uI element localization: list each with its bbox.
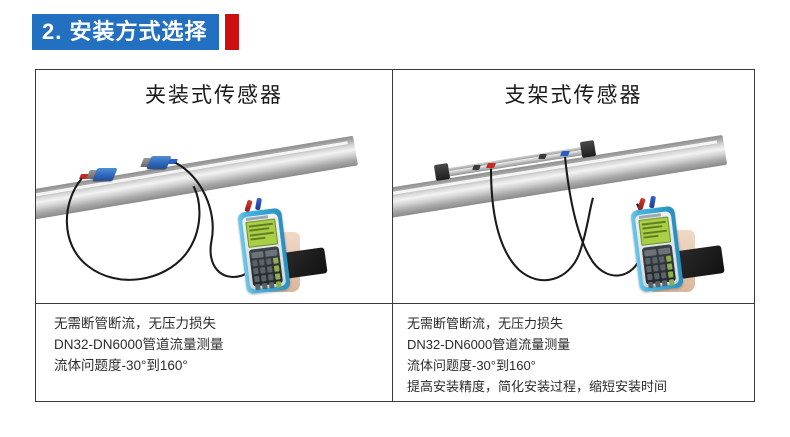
keypad-key: [661, 272, 667, 279]
figure-bracket-installation: [393, 118, 754, 303]
keypad-key: [666, 255, 672, 262]
keypad-key: [252, 260, 258, 267]
keypad-key: [652, 257, 658, 264]
meter-lcd-screen: [245, 218, 278, 247]
spec-line: DN32-DN6000管道流量测量: [54, 334, 382, 355]
page-title-bar: 2. 安装方式选择: [32, 14, 239, 50]
lcd-line: [250, 237, 266, 241]
specs-clamp-on: 无需断管断流，无压力损失 DN32-DN6000管道流量测量 流体问题度-30°…: [36, 303, 392, 401]
spec-line: DN32-DN6000管道流量测量: [407, 334, 744, 355]
keypad-key: [259, 259, 265, 266]
panel-title-clamp-on: 夹装式传感器: [36, 70, 392, 118]
keypad-key: [654, 273, 660, 280]
keypad-key: [668, 271, 674, 278]
keypad-key: [267, 266, 273, 273]
meter-lcd-screen: [638, 216, 671, 245]
spec-line: 流体问题度-30°到160°: [407, 355, 744, 376]
keypad-key: [260, 267, 266, 274]
keypad-key: [647, 274, 653, 281]
keypad-key: [645, 258, 651, 265]
lcd-line: [642, 220, 666, 225]
lcd-line: [249, 222, 273, 227]
keypad-key: [274, 265, 280, 272]
keypad-key: [254, 276, 260, 283]
keypad-key: [273, 257, 279, 264]
spec-line: 提高安装精度，简化安装过程，缩短安装时间: [407, 376, 744, 397]
spec-line: 无需断管断流，无压力损失: [54, 313, 382, 334]
keypad-key: [265, 249, 278, 256]
keypad-key: [269, 282, 275, 289]
keypad-key: [669, 279, 675, 286]
keypad-key: [648, 282, 654, 289]
keypad-key: [646, 266, 652, 273]
keypad-key: [653, 265, 659, 272]
lcd-line: [249, 227, 269, 231]
keypad-key: [660, 264, 666, 271]
handheld-meter-assembly: [625, 194, 735, 303]
keypad-key: [266, 258, 272, 265]
lcd-line: [643, 235, 659, 239]
handheld-meter-assembly: [232, 198, 342, 303]
keypad-key: [268, 274, 274, 281]
keypad-key: [658, 247, 671, 254]
keypad-key: [655, 281, 661, 288]
meter-keypad: [249, 246, 283, 286]
handheld-flow-meter: [630, 206, 684, 293]
keypad-key: [261, 275, 267, 282]
figure-clamp-on-installation: [36, 118, 392, 303]
panel-bracket-sensor: 支架式传感器: [393, 70, 754, 401]
keypad-key: [253, 268, 259, 275]
spec-line: 无需断管断流，无压力损失: [407, 313, 744, 334]
specs-bracket: 无需断管断流，无压力损失 DN32-DN6000管道流量测量 流体问题度-30°…: [393, 303, 754, 401]
panel-title-bracket: 支架式传感器: [393, 70, 754, 118]
keypad-key: [255, 284, 261, 291]
probe-lead-blue: [255, 198, 262, 211]
wrist-strap: [282, 247, 327, 279]
keypad-key: [276, 281, 282, 288]
page-title: 2. 安装方式选择: [32, 14, 219, 50]
keypad-key: [262, 283, 268, 290]
keypad-key: [251, 251, 264, 258]
panel-clamp-on-sensor: 夹装式传感器: [36, 70, 393, 401]
keypad-key: [644, 249, 657, 256]
spec-line: 流体问题度-30°到160°: [54, 355, 382, 376]
title-accent-bar: [225, 14, 239, 50]
probe-lead-blue: [649, 196, 656, 209]
lcd-line: [643, 229, 667, 234]
meter-keypad: [642, 244, 676, 284]
keypad-key: [275, 273, 281, 280]
wrist-strap: [677, 245, 724, 279]
lcd-line: [250, 231, 274, 236]
keypad-key: [667, 263, 673, 270]
installation-comparison-table: 夹装式传感器: [35, 69, 755, 402]
lcd-line: [642, 225, 662, 229]
keypad-key: [659, 256, 665, 263]
keypad-key: [662, 280, 668, 287]
handheld-flow-meter: [237, 208, 291, 295]
